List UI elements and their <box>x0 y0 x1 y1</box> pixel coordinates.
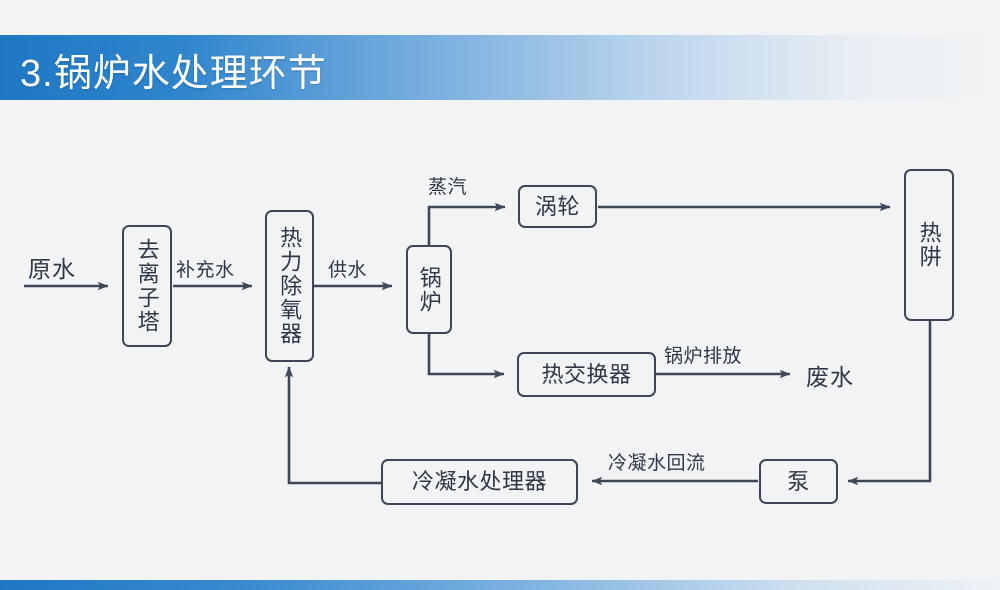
edge-condensate-deaerator <box>289 367 381 483</box>
label-feed-water: 供水 <box>328 255 367 282</box>
page-title: 3.锅炉水处理环节 <box>20 42 327 97</box>
node-turbine[interactable]: 涡轮 <box>518 185 597 228</box>
node-deaerator-label: 热力除氧器 <box>278 226 301 346</box>
node-boiler[interactable]: 锅炉 <box>406 245 452 334</box>
node-boiler-label: 锅炉 <box>417 266 440 314</box>
node-heatsink-label: 热阱 <box>917 221 940 269</box>
node-heat-exchanger-label: 热交换器 <box>541 363 631 386</box>
node-pump[interactable]: 泵 <box>759 459 838 504</box>
edge-heatsink-pump <box>848 321 930 481</box>
node-heatsink[interactable]: 热阱 <box>904 169 954 321</box>
label-condensate-return: 冷凝水回流 <box>608 448 706 475</box>
label-wastewater: 废水 <box>806 358 854 392</box>
footer-gradient-bar <box>0 580 1000 590</box>
node-condensate-processor[interactable]: 冷凝水处理器 <box>381 459 578 505</box>
label-steam: 蒸汽 <box>428 172 467 199</box>
boiler-water-treatment-flowchart: 去离子塔 热力除氧器 锅炉 涡轮 热阱 热交换器 冷凝水处理器 泵 原水 废水 … <box>0 100 1000 580</box>
node-turbine-label: 涡轮 <box>535 195 580 218</box>
label-raw-water: 原水 <box>28 250 76 284</box>
edge-boiler-turbine <box>429 207 505 245</box>
node-deionizer-label: 去离子塔 <box>135 238 158 334</box>
label-makeup-water: 补充水 <box>176 255 235 282</box>
slide-page: 3.锅炉水处理环节 <box>0 0 1000 590</box>
node-deionizer[interactable]: 去离子塔 <box>122 225 172 347</box>
label-boiler-blowdown: 锅炉排放 <box>664 341 742 368</box>
node-deaerator[interactable]: 热力除氧器 <box>265 210 314 362</box>
node-heat-exchanger[interactable]: 热交换器 <box>517 352 656 397</box>
node-pump-label: 泵 <box>787 470 810 493</box>
edge-boiler-exchanger <box>429 333 504 374</box>
node-condensate-processor-label: 冷凝水处理器 <box>412 470 547 493</box>
